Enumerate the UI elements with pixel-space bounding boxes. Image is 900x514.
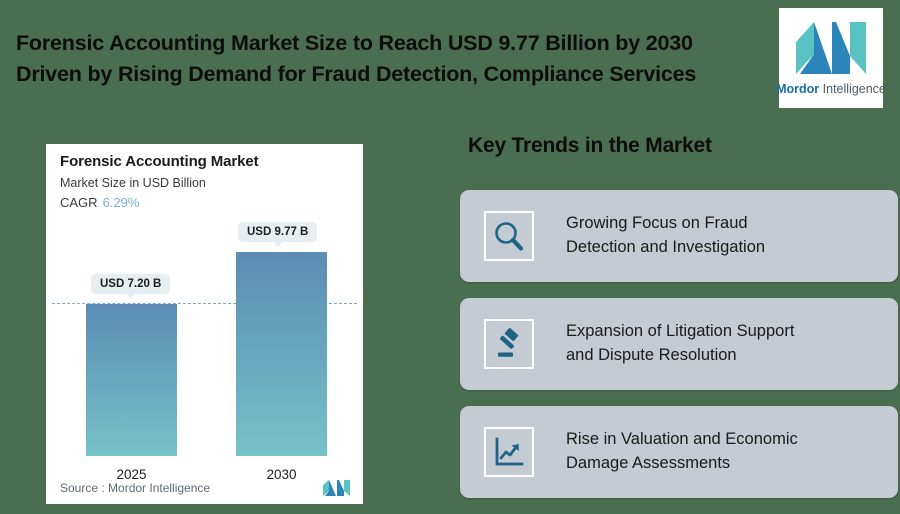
- trend-text-line-2: and Dispute Resolution: [566, 346, 737, 364]
- cagr-label: CAGR: [60, 195, 98, 210]
- chart-source-text: Source : Mordor Intelligence: [60, 481, 210, 495]
- chart-title: Forensic Accounting Market: [60, 153, 259, 170]
- trend-text-line-1: Expansion of Litigation Support: [566, 322, 794, 340]
- bar-2025: [86, 304, 177, 456]
- trend-text-line-2: Damage Assessments: [566, 454, 730, 472]
- brand-word-light: Intelligence: [819, 82, 886, 96]
- chart-subtitle: Market Size in USD Billion: [60, 176, 206, 190]
- trend-text-line-2: Detection and Investigation: [566, 238, 765, 256]
- trend-card-text: Expansion of Litigation Support and Disp…: [566, 320, 794, 368]
- magnifier-icon: [484, 211, 534, 261]
- trend-card-text: Rise in Valuation and Economic Damage As…: [566, 428, 798, 476]
- chart-source-row: Source : Mordor Intelligence: [60, 478, 351, 498]
- chart-plot-area: USD 7.20 B USD 9.77 B 2025 2030: [46, 222, 363, 504]
- brand-logo: Mordor Intelligence: [779, 8, 883, 108]
- line-chart-up-icon: [484, 427, 534, 477]
- brand-wordmark: Mordor Intelligence: [776, 82, 886, 96]
- brand-word-bold: Mordor: [776, 82, 819, 96]
- bar-value-label-2030: USD 9.77 B: [238, 222, 317, 242]
- page-title-line-2: Driven by Rising Demand for Fraud Detect…: [16, 59, 776, 90]
- bar-2030: [236, 252, 327, 456]
- page-title: Forensic Accounting Market Size to Reach…: [16, 28, 776, 89]
- trend-text-line-1: Rise in Valuation and Economic: [566, 430, 798, 448]
- bar-value-label-2025: USD 7.20 B: [91, 274, 170, 294]
- page-title-line-1: Forensic Accounting Market Size to Reach…: [16, 28, 776, 59]
- trend-list: Growing Focus on Fraud Detection and Inv…: [460, 190, 898, 514]
- chart-panel: Forensic Accounting Market Market Size i…: [46, 144, 363, 504]
- cagr-row: CAGR6.29%: [60, 195, 139, 210]
- trend-card-text: Growing Focus on Fraud Detection and Inv…: [566, 212, 765, 260]
- cagr-value: 6.29%: [103, 195, 140, 210]
- mordor-mark-icon: [323, 480, 351, 496]
- gavel-icon: [484, 319, 534, 369]
- trend-card-litigation-support[interactable]: Expansion of Litigation Support and Disp…: [460, 298, 898, 390]
- trend-text-line-1: Growing Focus on Fraud: [566, 214, 748, 232]
- trend-card-fraud-detection[interactable]: Growing Focus on Fraud Detection and Inv…: [460, 190, 898, 282]
- trends-heading: Key Trends in the Market: [468, 134, 712, 158]
- trend-card-valuation-assessments[interactable]: Rise in Valuation and Economic Damage As…: [460, 406, 898, 498]
- mordor-intelligence-logo-icon: [794, 20, 868, 76]
